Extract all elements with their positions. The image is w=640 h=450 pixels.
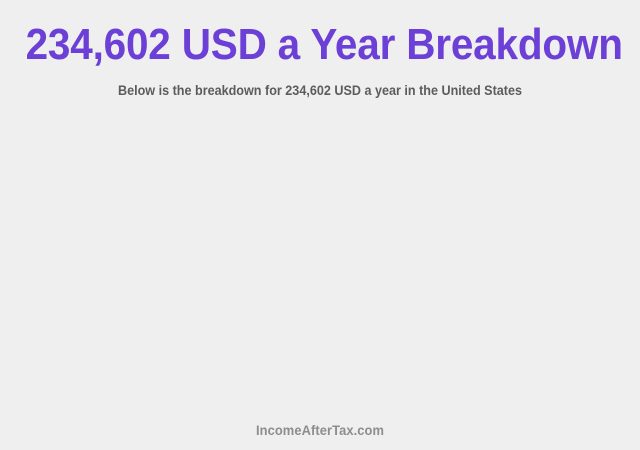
page-header: 234,602 USD a Year Breakdown Below is th… bbox=[0, 0, 640, 98]
page-title: 234,602 USD a Year Breakdown bbox=[26, 22, 615, 68]
income-breakdown-page: 234,602 USD a Year Breakdown Below is th… bbox=[0, 0, 640, 450]
page-subtitle: Below is the breakdown for 234,602 USD a… bbox=[32, 68, 608, 98]
page-footer: IncomeAfterTax.com bbox=[0, 422, 640, 450]
breakdown-content-region bbox=[0, 98, 640, 422]
site-brand-label: IncomeAfterTax.com bbox=[26, 422, 615, 438]
